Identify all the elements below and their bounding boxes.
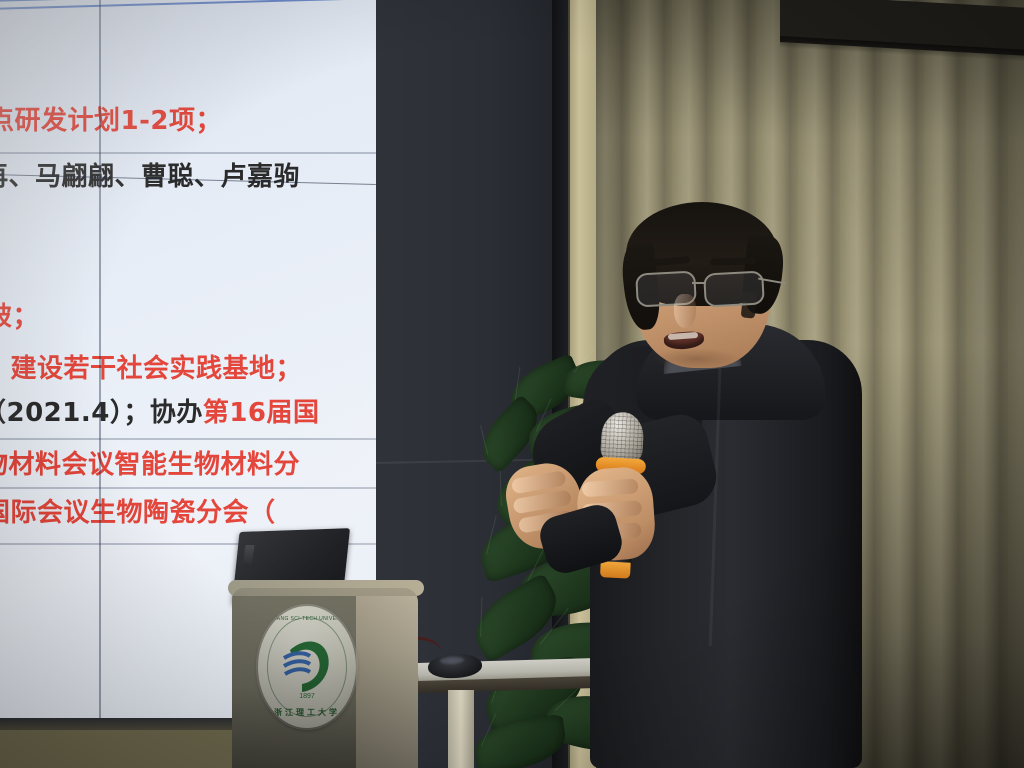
eyeglass-bridge — [692, 282, 706, 284]
presentation-photo: 点研发计划1-2项； 再、马翩翩、曹聪、卢嘉驹 破； ，建设若干社会实践基地； … — [0, 0, 1024, 768]
screen-vertical-seam — [99, 0, 101, 725]
slide-line-6: 物材料会议智能生物材料分 — [0, 444, 300, 481]
side-desk-leg — [448, 690, 474, 768]
slide-line-5-head: （2021.4）；协办 — [0, 398, 203, 428]
lectern-shading — [232, 588, 418, 768]
presenter — [486, 196, 886, 768]
nose — [674, 294, 696, 328]
microphone-mesh — [600, 411, 645, 463]
microphone-base — [600, 561, 631, 579]
eyeglass-lens-right — [703, 270, 765, 307]
slide-line-3: 破； — [0, 296, 39, 333]
slide-line-4: ，建设若干社会实践基地； — [0, 348, 302, 385]
eyeglasses — [632, 272, 780, 306]
slide-line-1: 点研发计划1-2项； — [0, 100, 222, 137]
screen-panel-seam — [0, 152, 376, 154]
finger — [582, 478, 639, 497]
chin-shadow — [650, 348, 742, 370]
slide-line-5-tail: 第16届国 — [203, 398, 320, 428]
slide-line-5: （2021.4）；协办第16届国 — [0, 392, 320, 429]
screen-panel-seam — [0, 487, 376, 489]
screen-panel-seam — [0, 438, 376, 440]
slide-line-7: 国际会议生物陶瓷分会（ — [0, 492, 276, 529]
